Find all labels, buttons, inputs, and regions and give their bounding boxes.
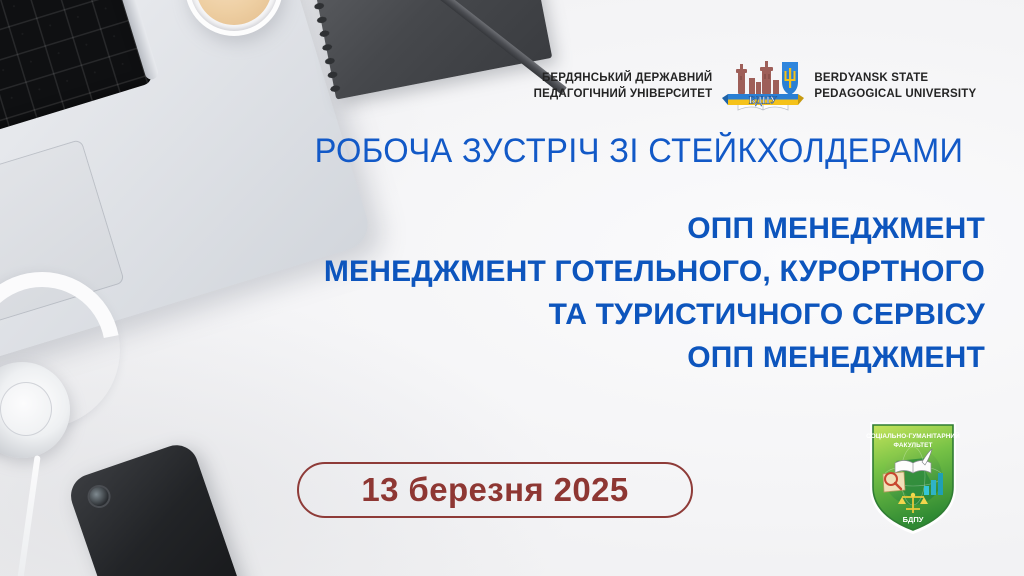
university-name-ukrainian-line1: БЕРДЯНСЬКИЙ ДЕРЖАВНИЙ (534, 70, 713, 86)
university-emblem-icon: БДПУ (720, 58, 806, 114)
programme-headline-block: ОПП МЕНЕДЖМЕНТ МЕНЕДЖМЕНТ ГОТЕЛЬНОГО, КУ… (240, 208, 985, 380)
faculty-emblem-icon: СОЦІАЛЬНО-ГУМАНІТАРНИЙ ФАКУЛЬТЕТ (862, 416, 964, 538)
programme-headline-line: МЕНЕДЖМЕНТ ГОТЕЛЬНОГО, КУРОРТНОГО (240, 251, 985, 294)
programme-headline-line: ОПП МЕНЕДЖМЕНТ (240, 208, 985, 251)
event-date-text: 13 березня 2025 (361, 471, 628, 509)
university-name-ukrainian: БЕРДЯНСЬКИЙ ДЕРЖАВНИЙ ПЕДАГОГІЧНИЙ УНІВЕ… (534, 70, 713, 103)
event-date-badge: 13 березня 2025 (297, 462, 693, 518)
programme-headline-line: ТА ТУРИСТИЧНОГО СЕРВІСУ (240, 294, 985, 337)
university-name-ukrainian-line2: ПЕДАГОГІЧНИЙ УНІВЕРСИТЕТ (534, 86, 713, 102)
slide-main-title: РОБОЧА ЗУСТРІЧ ЗІ СТЕЙКХОЛДЕРАМИ (294, 132, 983, 171)
faculty-title-line2: ФАКУЛЬТЕТ (893, 442, 932, 449)
university-logo-lockup: БЕРДЯНСЬКИЙ ДЕРЖАВНИЙ ПЕДАГОГІЧНИЙ УНІВЕ… (520, 58, 990, 114)
smartphone-camera (87, 484, 111, 508)
university-name-english-line2: PEDAGOGICAL UNIVERSITY (814, 86, 976, 102)
svg-text:БДПУ: БДПУ (749, 95, 778, 106)
faculty-title-line1: СОЦІАЛЬНО-ГУМАНІТАРНИЙ (866, 431, 960, 440)
programme-headline-line: ОПП МЕНЕДЖМЕНТ (240, 337, 985, 380)
university-name-english: BERDYANSK STATE PEDAGOGICAL UNIVERSITY (814, 70, 976, 103)
presentation-slide: БЕРДЯНСЬКИЙ ДЕРЖАВНИЙ ПЕДАГОГІЧНИЙ УНІВЕ… (0, 0, 1024, 576)
faculty-emblem-bottom-text: БДПУ (903, 515, 924, 524)
university-name-english-line1: BERDYANSK STATE (814, 70, 976, 86)
